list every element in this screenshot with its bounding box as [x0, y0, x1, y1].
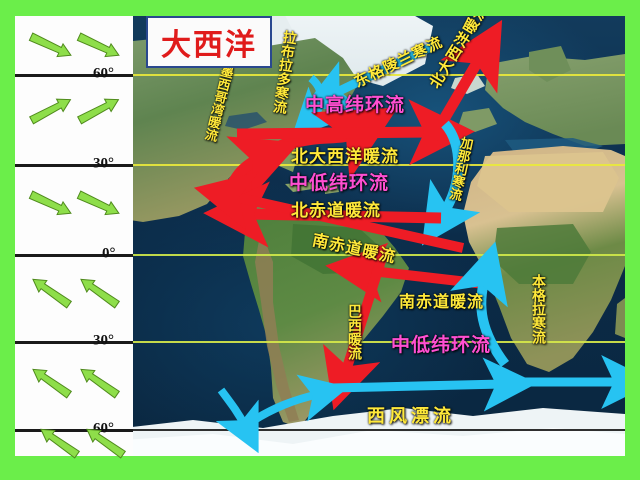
current-arrow-antarctic-feeder — [221, 390, 245, 426]
world-map-satellite: 拉布拉多寒流 东格陵兰寒流 中高纬环流 北大西洋暖流 墨西哥湾暖流 北大西洋暖流… — [133, 16, 625, 456]
label-north-equatorial-current: 北赤道暖流 — [291, 196, 381, 221]
wind-arrow-trades-north-1 — [28, 187, 75, 220]
wind-arrow-polar-north-2 — [76, 29, 123, 62]
wind-arrow-westerlies-south-2 — [76, 363, 121, 401]
wind-lat-label-0: 0° — [102, 246, 116, 263]
current-arrow-west-wind-drift-1 — [331, 384, 503, 388]
wind-arrow-westerlies-north-1 — [28, 93, 74, 128]
label-brazil-current: 巴西暖流 — [345, 304, 365, 360]
wind-arrow-trades-south-1 — [28, 273, 73, 311]
label-west-wind-drift: 西风漂流 — [367, 402, 455, 428]
wind-diagram-panel: 60° 30° 0° 30° 60° — [15, 16, 133, 456]
label-mid-high-latitude-gyre: 中高纬环流 — [305, 90, 405, 117]
page-title: 大西洋 — [161, 20, 257, 64]
wind-arrow-trades-south-2 — [76, 273, 121, 311]
wind-arrow-polar-north-1 — [28, 29, 75, 62]
wind-lat-label-30s: 30° — [93, 333, 114, 350]
label-benguela-current: 本格拉寒流 — [529, 274, 549, 344]
wind-lat-line-60n — [15, 74, 133, 77]
label-mid-low-latitude-gyre-south: 中低纬环流 — [391, 330, 491, 357]
wind-arrow-westerlies-south-1 — [28, 363, 73, 401]
current-arrow-north-atlantic-drift-h — [237, 132, 433, 134]
atlantic-ocean-currents-figure: 60° 30° 0° 30° 60° — [0, 0, 640, 480]
wind-arrow-trades-north-2 — [76, 187, 123, 220]
label-north-atlantic-drift: 北大西洋暖流 — [291, 142, 399, 167]
wind-lat-line-30s — [15, 341, 133, 344]
label-mid-low-latitude-gyre-north: 中低纬环流 — [289, 168, 389, 195]
wind-lat-label-30n: 30° — [93, 156, 114, 173]
wind-lat-label-60n: 60° — [93, 66, 114, 83]
current-arrow-west-wind-drift-feeder — [251, 394, 319, 422]
map-title-box: 大西洋 — [146, 16, 272, 68]
wind-arrow-westerlies-north-2 — [76, 93, 122, 128]
label-south-equatorial-current-2: 南赤道暖流 — [399, 288, 484, 312]
wind-lat-line-60s — [15, 429, 133, 432]
wind-lat-line-30n — [15, 164, 133, 167]
